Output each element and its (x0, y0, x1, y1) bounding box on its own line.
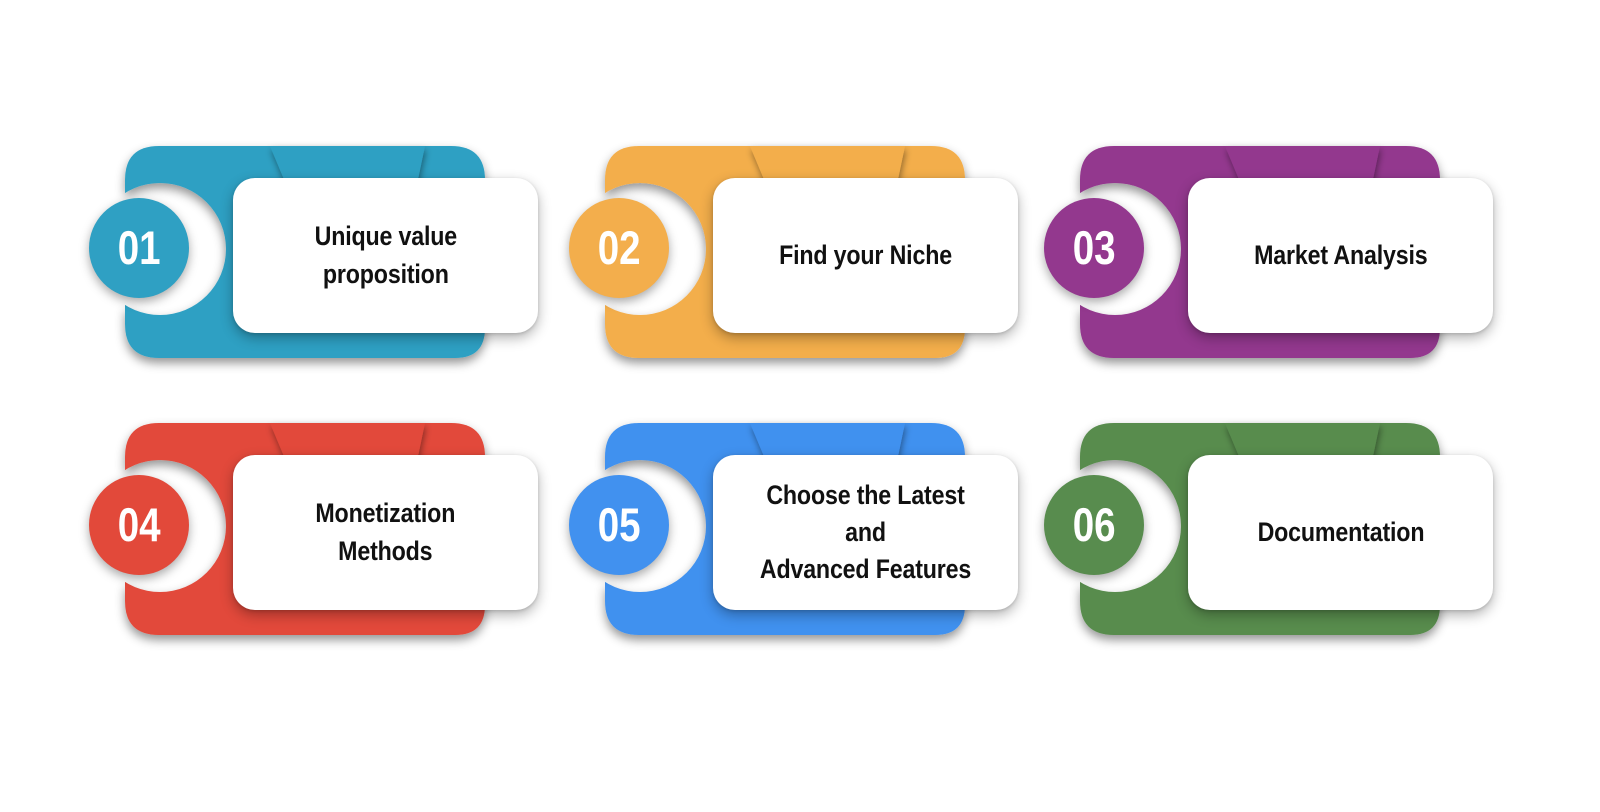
infographic-canvas: Unique value proposition01Find your Nich… (0, 0, 1600, 812)
card-title: Documentation (1257, 514, 1424, 551)
card-documentation[interactable]: Documentation06 (1080, 423, 1540, 653)
card-number-label: 06 (1073, 501, 1116, 548)
card-title: Find your Niche (779, 237, 952, 274)
card-monetization-methods[interactable]: Monetization Methods04 (125, 423, 585, 653)
card-title: Monetization Methods (316, 495, 456, 570)
card-content-panel[interactable]: Choose the Latest and Advanced Features (713, 455, 1018, 610)
card-market-analysis[interactable]: Market Analysis03 (1080, 146, 1540, 376)
card-number-badge[interactable]: 04 (89, 475, 189, 575)
card-title: Choose the Latest and Advanced Features (753, 477, 977, 589)
card-choose-latest-advanced-features[interactable]: Choose the Latest and Advanced Features0… (605, 423, 1065, 653)
card-number-label: 01 (118, 224, 161, 271)
card-number-label: 05 (598, 501, 641, 548)
card-content-panel[interactable]: Unique value proposition (233, 178, 538, 333)
card-number-badge[interactable]: 06 (1044, 475, 1144, 575)
card-content-panel[interactable]: Find your Niche (713, 178, 1018, 333)
card-number-label: 03 (1073, 224, 1116, 271)
card-content-panel[interactable]: Documentation (1188, 455, 1493, 610)
card-title: Unique value proposition (314, 218, 456, 293)
card-content-panel[interactable]: Monetization Methods (233, 455, 538, 610)
card-number-badge[interactable]: 05 (569, 475, 669, 575)
card-number-badge[interactable]: 01 (89, 198, 189, 298)
card-number-label: 02 (598, 224, 641, 271)
card-number-badge[interactable]: 03 (1044, 198, 1144, 298)
card-find-your-niche[interactable]: Find your Niche02 (605, 146, 1065, 376)
card-content-panel[interactable]: Market Analysis (1188, 178, 1493, 333)
card-title: Market Analysis (1254, 237, 1427, 274)
card-number-badge[interactable]: 02 (569, 198, 669, 298)
card-unique-value-proposition[interactable]: Unique value proposition01 (125, 146, 585, 376)
card-number-label: 04 (118, 501, 161, 548)
